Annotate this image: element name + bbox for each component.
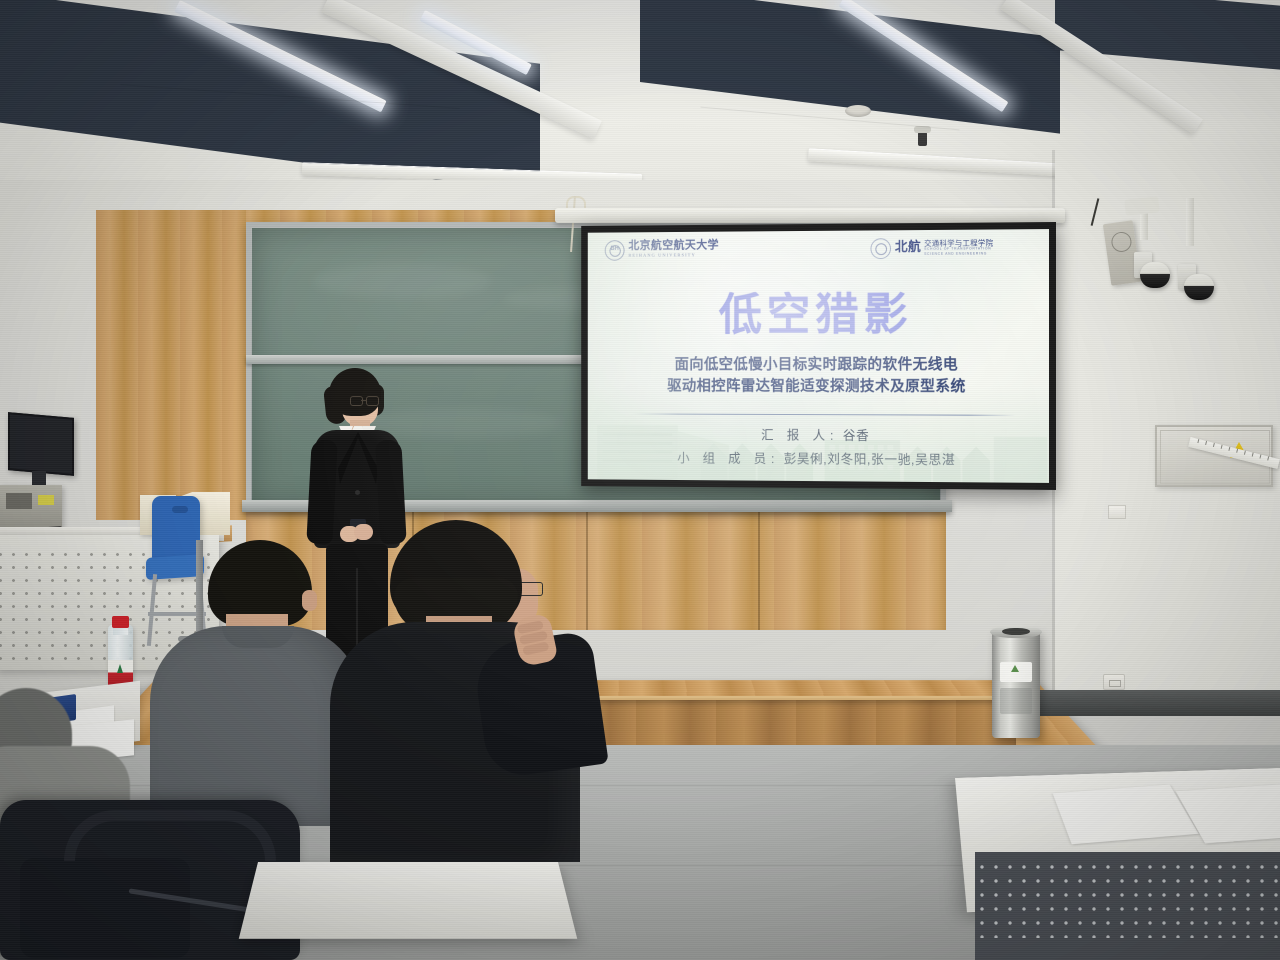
school-logo: 北航 交通科学与工程学院 SCHOOL OF TRANSPORTATION SC… xyxy=(870,237,993,259)
projected-slide: BH 北京航空航天大学 BEIHANG UNIVERSITY 北航 交通科学与工 xyxy=(588,229,1049,483)
audience1-collar xyxy=(222,626,294,648)
floor-baseboard xyxy=(1000,690,1280,716)
audience-member-black xyxy=(330,520,600,850)
presenter-row: 汇 报 人: 谷香 xyxy=(588,423,1049,449)
members-names: 彭昊俐,刘冬阳,张一驰,吴思湛 xyxy=(784,451,956,467)
slide-title: 低空猎影 xyxy=(588,291,1049,337)
presenter-hair xyxy=(329,368,381,416)
classroom-photo: BH 北京航空航天大学 BEIHANG UNIVERSITY 北航 交通科学与工 xyxy=(0,0,1280,960)
light-switch[interactable] xyxy=(1108,505,1126,519)
bottle-logo-icon xyxy=(117,664,123,673)
front-desk-center xyxy=(239,862,577,939)
school-dept-en-line2: SCIENCE AND ENGINEERING xyxy=(924,252,993,257)
university-logo: BH 北京航空航天大学 BEIHANG UNIVERSITY xyxy=(605,239,719,260)
wall-wood-panel-left xyxy=(96,210,246,520)
screen-roller-housing xyxy=(555,208,1065,223)
bottle-cap xyxy=(112,616,129,628)
recycle-icon xyxy=(1011,665,1019,672)
university-seal-icon: BH xyxy=(605,240,625,261)
trash-can xyxy=(992,630,1040,738)
blue-chair-handle-slot xyxy=(172,506,188,513)
presenter-name: 谷香 xyxy=(843,428,869,443)
university-seal-text: BH xyxy=(606,246,624,252)
audience1-ear xyxy=(302,590,317,611)
trash-can-opening xyxy=(1002,628,1030,635)
presenter-glasses-icon xyxy=(350,396,378,405)
audience-member-gray xyxy=(150,540,360,820)
projection-screen: BH 北京航空航天大学 BEIHANG UNIVERSITY 北航 交通科学与工 xyxy=(581,222,1056,490)
university-name-cn: 北京航空航天大学 xyxy=(628,241,719,253)
slide-subtitle-line2: 驱动相控阵雷达智能适变探测技术及原型系统 xyxy=(588,375,1049,397)
smoke-detector xyxy=(845,105,871,117)
presenter-label: 汇 报 人: xyxy=(761,428,838,443)
bottle-neck xyxy=(113,627,128,635)
front-desk-right-perforation xyxy=(975,860,1280,938)
members-label: 小 组 成 员: xyxy=(677,451,779,466)
backpack-front-panel xyxy=(20,858,190,958)
wall-outlet xyxy=(1103,674,1125,690)
monitor-screen xyxy=(8,412,74,476)
university-name-en: BEIHANG UNIVERSITY xyxy=(628,252,719,259)
slide-subtitle-line1: 面向低空低慢小目标实时跟踪的软件无线电 xyxy=(588,354,1049,376)
school-seal-icon xyxy=(870,238,891,259)
slide-subtitle: 面向低空低慢小目标实时跟踪的软件无线电 驱动相控阵雷达智能适变探测技术及原型系统 xyxy=(588,354,1049,397)
presenter-jacket-button xyxy=(355,490,360,495)
slide-divider xyxy=(633,413,1015,416)
desktop-monitor xyxy=(8,415,74,487)
members-row: 小 组 成 员: 彭昊俐,刘冬阳,张一驰,吴思湛 xyxy=(588,446,1049,473)
trash-can-sub-label xyxy=(1000,688,1032,714)
slide-meta: 汇 报 人: 谷香 小 组 成 员: 彭昊俐,刘冬阳,张一驰,吴思湛 xyxy=(588,423,1049,473)
sprinkler-head xyxy=(918,132,927,146)
backpack-strap xyxy=(64,810,276,861)
slide-logo-row: BH 北京航空航天大学 BEIHANG UNIVERSITY 北航 交通科学与工 xyxy=(588,235,1049,268)
school-short-cn: 北航 xyxy=(895,240,921,253)
